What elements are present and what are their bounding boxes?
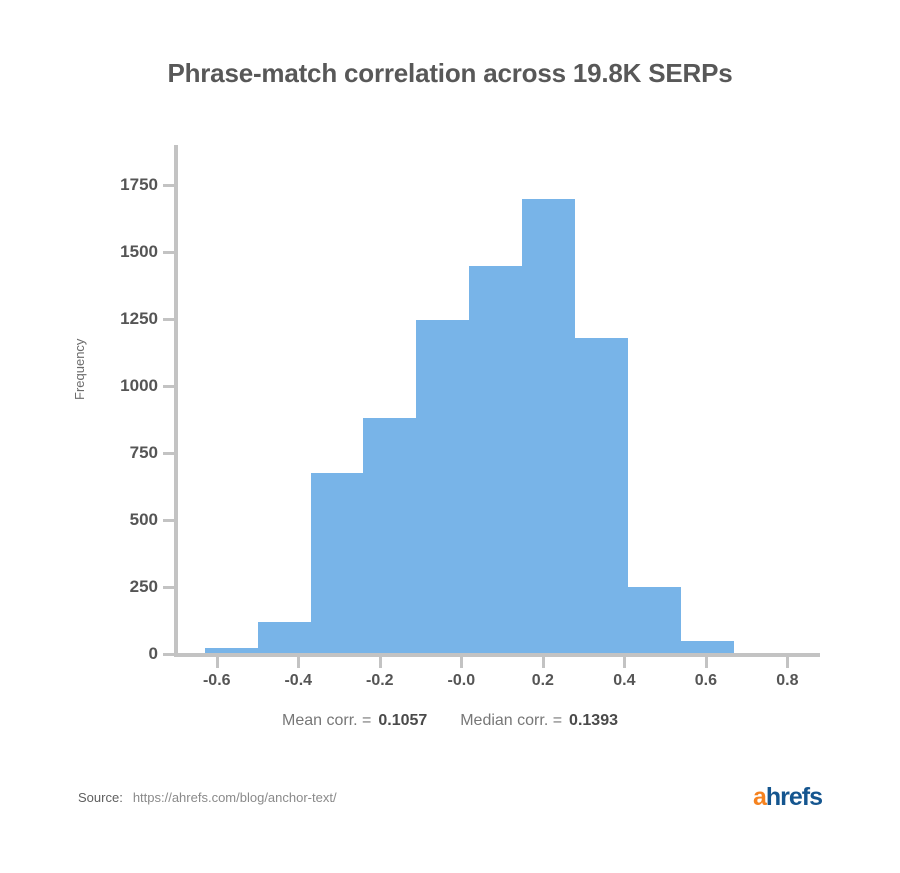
ahrefs-logo[interactable]: ahrefs (753, 783, 822, 812)
y-axis-tick-label: 500 (130, 510, 158, 530)
y-axis-tick-label: 1750 (120, 175, 158, 195)
x-axis-tick (705, 657, 708, 668)
y-axis-tick-label: 250 (130, 577, 158, 597)
footer: Source:https://ahrefs.com/blog/anchor-te… (0, 790, 900, 820)
plot-area: Frequency 02505007501000125015001750 -0.… (0, 0, 900, 700)
x-axis-tick (460, 657, 463, 668)
y-axis-label: Frequency (72, 339, 87, 400)
median-value: 0.1393 (569, 712, 618, 729)
x-axis-tick-label: 0.8 (776, 672, 798, 690)
logo-letter-a: a (753, 783, 766, 811)
y-axis-tick-label: 0 (149, 644, 158, 664)
histogram-bar (363, 418, 416, 654)
x-axis-line (174, 653, 820, 657)
chart-page: Phrase-match correlation across 19.8K SE… (0, 0, 900, 873)
source-url[interactable]: https://ahrefs.com/blog/anchor-text/ (133, 790, 337, 805)
logo-wordmark: hrefs (766, 783, 822, 811)
y-axis-tick (163, 318, 174, 321)
mean-label: Mean corr. = (282, 712, 371, 729)
x-axis-tick-label: -0.4 (284, 672, 312, 690)
y-axis-tick (163, 385, 174, 388)
x-axis-tick-label: 0.2 (532, 672, 554, 690)
source-label: Source: (78, 790, 123, 805)
x-axis-tick (542, 657, 545, 668)
histogram-bar (522, 199, 575, 654)
histogram-bar (416, 320, 469, 654)
y-axis-tick-label: 1250 (120, 309, 158, 329)
median-label: Median corr. = (460, 712, 562, 729)
histogram-bar (311, 473, 364, 654)
y-axis-tick (163, 251, 174, 254)
histogram-bar (575, 338, 628, 654)
x-axis-tick (216, 657, 219, 668)
mean-value: 0.1057 (378, 712, 427, 729)
x-axis-tick-label: -0.2 (366, 672, 394, 690)
histogram-bar (258, 622, 311, 654)
y-axis-tick (163, 653, 174, 656)
x-axis-tick (623, 657, 626, 668)
x-axis-tick-label: -0.6 (203, 672, 231, 690)
x-axis-tick (786, 657, 789, 668)
histogram-bar (681, 641, 734, 654)
histogram-bar (628, 587, 681, 654)
y-axis-tick (163, 519, 174, 522)
x-axis-tick-label: 0.6 (695, 672, 717, 690)
y-axis-tick (163, 452, 174, 455)
stats-annotation: Mean corr. =0.1057 Median corr. =0.1393 (0, 712, 900, 730)
x-axis-tick-label: -0.0 (448, 672, 476, 690)
y-axis-tick-label: 1500 (120, 242, 158, 262)
x-axis-tick-label: 0.4 (613, 672, 635, 690)
y-axis-line (174, 145, 178, 656)
x-axis-tick (379, 657, 382, 668)
y-axis-tick-label: 750 (130, 443, 158, 463)
y-axis-tick-label: 1000 (120, 376, 158, 396)
source-block: Source:https://ahrefs.com/blog/anchor-te… (78, 790, 337, 805)
y-axis-tick (163, 184, 174, 187)
x-axis-tick (297, 657, 300, 668)
histogram-bar (469, 266, 522, 654)
y-axis-tick (163, 586, 174, 589)
